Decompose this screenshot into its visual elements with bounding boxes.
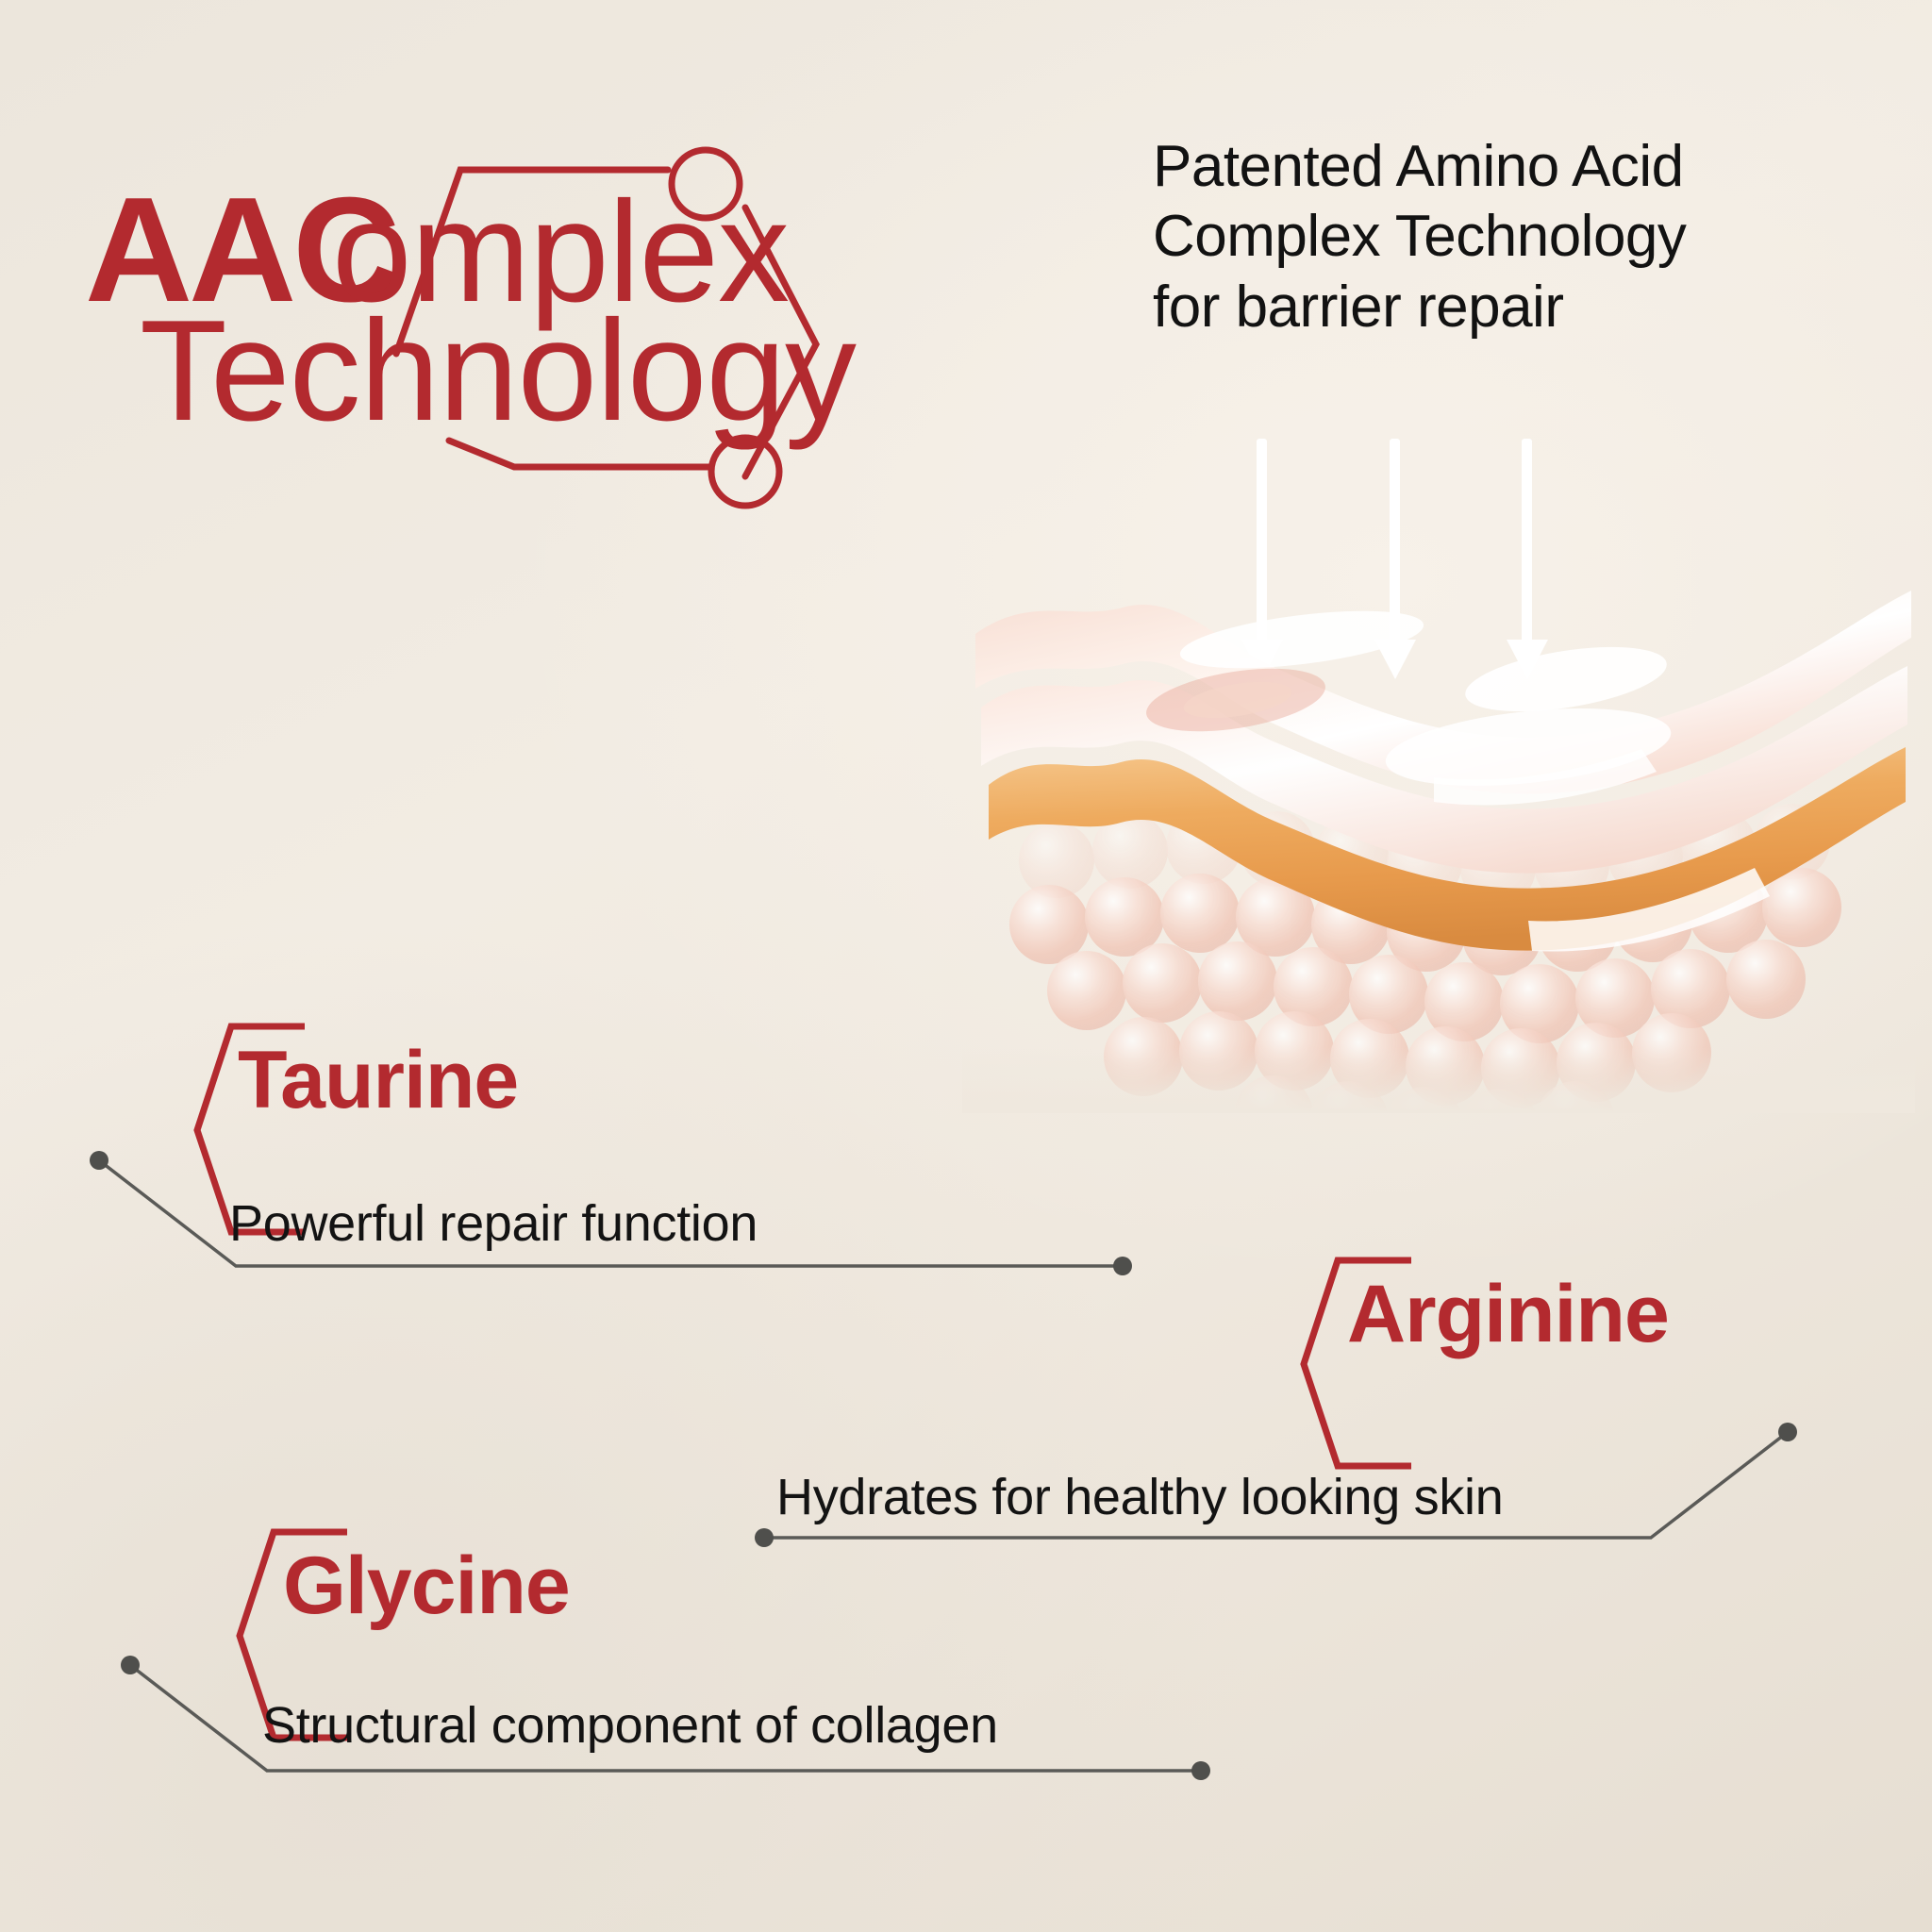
taurine-label: Taurine: [238, 1040, 518, 1121]
taurine-description: Powerful repair function: [229, 1198, 758, 1249]
arginine-label: Arginine: [1347, 1274, 1669, 1355]
headline-line-3: for barrier repair: [1153, 273, 1870, 342]
down-arrow-3: [1507, 439, 1548, 679]
headline-line-1: Patented Amino Acid: [1153, 132, 1870, 202]
glycine-label: Glycine: [283, 1545, 570, 1626]
bottom-fade: [962, 1047, 1915, 1113]
infographic-canvas: AAC omplex Technology Patented Amino Aci…: [0, 0, 1932, 1932]
headline-block: Patented Amino Acid Complex Technology f…: [1153, 132, 1870, 342]
glycine-description: Structural component of collagen: [262, 1700, 998, 1751]
aac-complex-technology-logo: AAC omplex Technology: [85, 71, 802, 448]
logo-thin-text-technology: Technology: [140, 291, 857, 451]
headline-line-2: Complex Technology: [1153, 202, 1870, 272]
skin-cross-section-illustration: [962, 396, 1915, 1113]
arginine-description: Hydrates for healthy looking skin: [776, 1472, 1504, 1523]
